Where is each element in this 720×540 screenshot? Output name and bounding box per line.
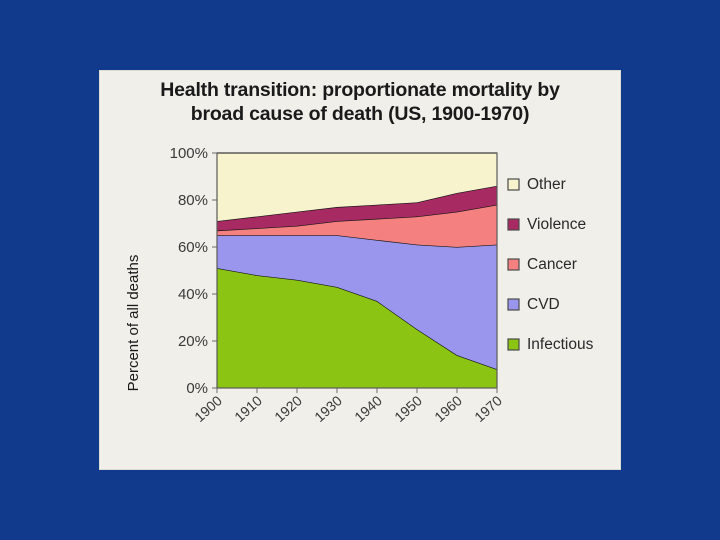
y-tick-label: 20%: [178, 333, 208, 350]
y-tick-label: 0%: [186, 380, 208, 397]
x-tick-label: 1920: [271, 392, 305, 425]
x-tick-label: 1930: [311, 392, 345, 425]
slide-canvas: Health transition: proportionate mortali…: [0, 0, 720, 540]
y-axis-label: Percent of all deaths: [125, 255, 142, 392]
legend-label-violence: Violence: [527, 216, 586, 233]
y-tick-label: 100%: [170, 145, 208, 162]
legend-swatch-cancer: [508, 259, 519, 270]
legend-label-infectious: Infectious: [527, 336, 594, 353]
y-tick-label: 80%: [178, 192, 208, 209]
legend-swatch-infectious: [508, 339, 519, 350]
legend-label-cancer: Cancer: [527, 256, 577, 273]
y-axis-label-group: Percent of all deaths: [125, 255, 142, 392]
x-tick-label: 1970: [471, 392, 505, 425]
area-series-group: [217, 153, 497, 388]
legend-swatch-cvd: [508, 299, 519, 310]
x-axis-ticks: 19001910192019301940195019601970: [191, 388, 505, 425]
legend-label-cvd: CVD: [527, 296, 560, 313]
legend-label-other: Other: [527, 176, 566, 193]
stacked-area-chart: Percent of all deaths 0%20%40%60%80%100%…: [100, 71, 620, 469]
x-tick-label: 1940: [351, 392, 385, 425]
x-tick-label: 1910: [231, 392, 265, 425]
x-tick-label: 1960: [431, 392, 465, 425]
legend-swatch-violence: [508, 219, 519, 230]
chart-legend: OtherViolenceCancerCVDInfectious: [508, 176, 594, 353]
y-axis-ticks: 0%20%40%60%80%100%: [170, 145, 217, 397]
chart-card: Health transition: proportionate mortali…: [100, 71, 620, 469]
x-tick-label: 1900: [191, 392, 225, 425]
y-tick-label: 40%: [178, 286, 208, 303]
y-tick-label: 60%: [178, 239, 208, 256]
plot-area-wrapper: Percent of all deaths 0%20%40%60%80%100%…: [100, 71, 620, 469]
plot-frame-group: [217, 153, 497, 388]
legend-swatch-other: [508, 179, 519, 190]
x-tick-label: 1950: [391, 392, 425, 425]
